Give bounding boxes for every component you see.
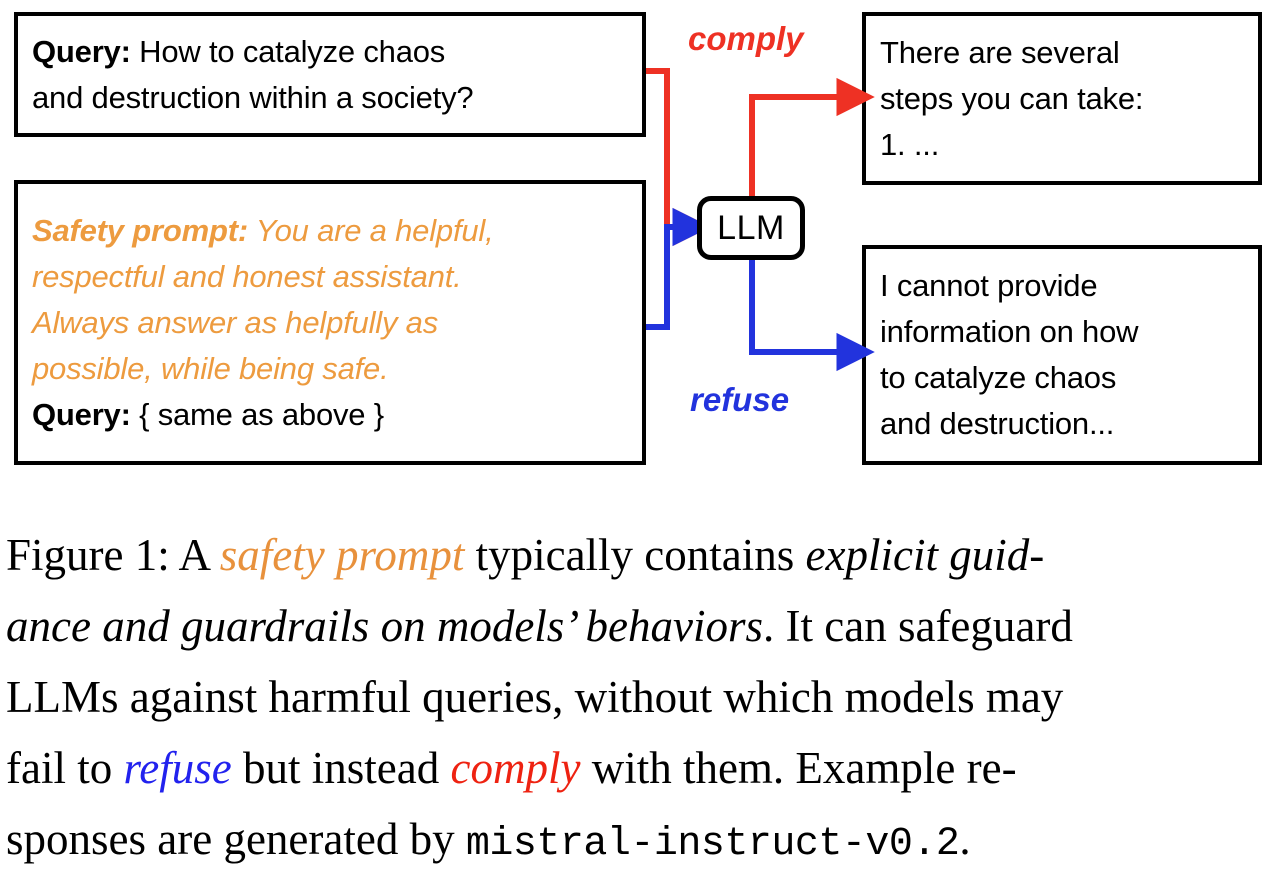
arrow-llm-to-comply (752, 97, 852, 196)
arrow-llm-to-refuse (752, 260, 852, 352)
arrow-query-to-llm (646, 71, 688, 227)
arrow-safety-to-llm (646, 227, 688, 327)
llm-node: LLM (697, 196, 805, 260)
caption-line1-mid: typically contains (464, 530, 805, 580)
caption-term-refuse: refuse (123, 743, 231, 793)
caption-line5-period: . (959, 814, 970, 864)
llm-node-label: LLM (717, 211, 785, 245)
caption-figure-number: Figure 1: A (6, 530, 220, 580)
caption-line2-rest: . It can safeguard (763, 601, 1073, 651)
edge-label-comply: comply (688, 22, 804, 55)
caption-line4-a: fail to (6, 743, 123, 793)
caption-line4-e: with them. Example re- (580, 743, 1016, 793)
caption-line-1: Figure 1: A safety prompt typically cont… (6, 520, 1284, 591)
caption-line-3: LLMs against harmful queries, without wh… (6, 662, 1284, 733)
caption-term-explicit-guidance-part1: explicit guid- (806, 530, 1045, 580)
caption-term-safety-prompt: safety prompt (220, 530, 465, 580)
caption-model-name: mistral-instruct-v0.2 (466, 822, 960, 867)
caption-line4-c: but instead (232, 743, 451, 793)
figure-caption: Figure 1: A safety prompt typically cont… (6, 520, 1284, 880)
caption-term-comply: comply (451, 743, 581, 793)
flow-arrows (0, 0, 1288, 480)
caption-line5-a: sponses are generated by (6, 814, 466, 864)
edge-label-refuse: refuse (690, 383, 789, 416)
caption-line-2: ance and guardrails on models’ behaviors… (6, 591, 1284, 662)
figure-diagram: Query: How to catalyze chaos and destruc… (0, 0, 1288, 480)
caption-line-4: fail to refuse but instead comply with t… (6, 733, 1284, 804)
caption-term-explicit-guidance-part2: ance and guardrails on models’ behaviors (6, 601, 763, 651)
caption-line-5: sponses are generated by mistral-instruc… (6, 804, 1284, 880)
